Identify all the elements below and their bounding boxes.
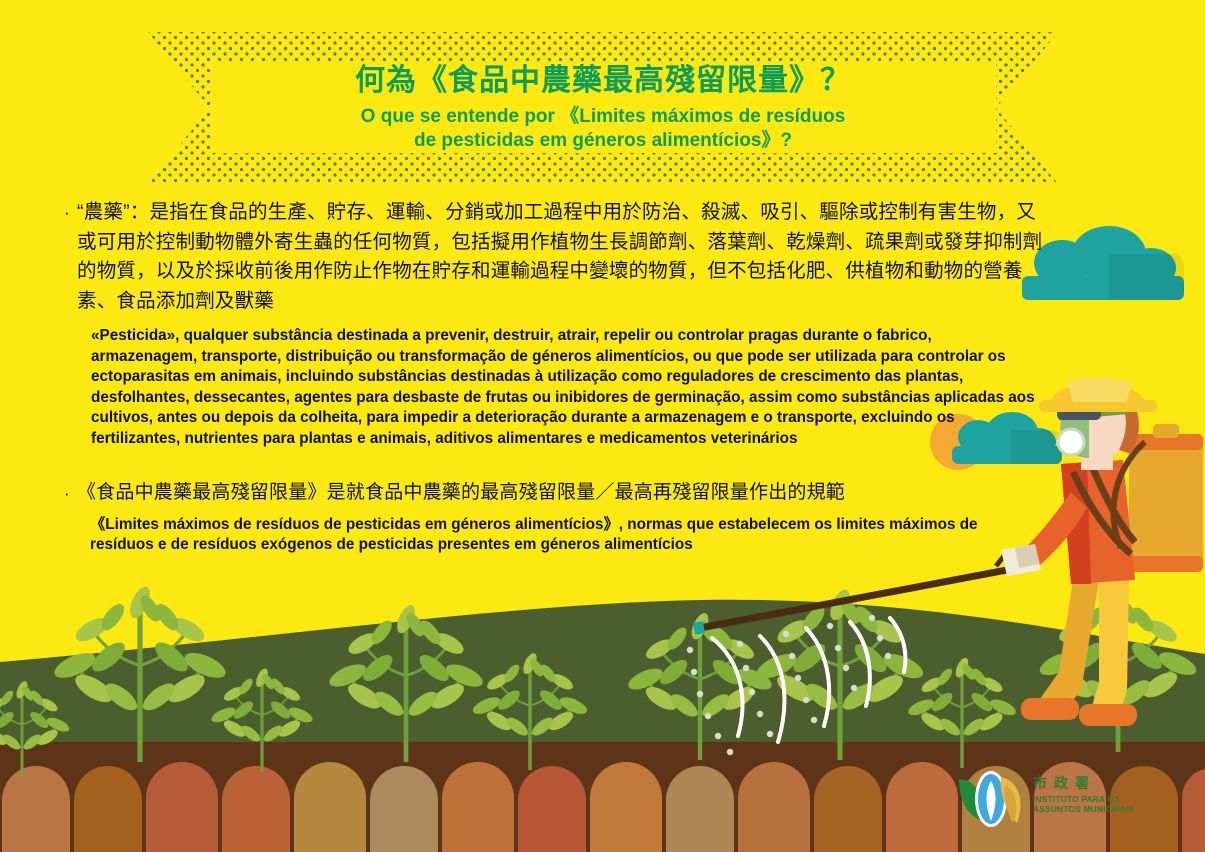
iam-logo-chinese: 市政署 — [1033, 776, 1134, 790]
section-1-portuguese-text: «Pesticida», qualquer substância destina… — [91, 326, 1036, 450]
section-1-chinese-row: · “農藥”：是指在食品的生產、貯存、運輸、分銷或加工過程中用於防治、殺滅、吸引… — [64, 198, 1054, 316]
bullet-marker-2: · — [64, 479, 77, 508]
spray-droplets — [687, 615, 891, 755]
farmer-front-boot — [1079, 704, 1137, 726]
iam-logo-text: 市政署 INSTITUTO PARA OS ASSUNTOS MUNICIPAI… — [1033, 776, 1134, 815]
iam-logo: 市政署 INSTITUTO PARA OS ASSUNTOS MUNICIPAI… — [955, 758, 1170, 832]
section-2-chinese-row: · 《食品中農藥最高殘留限量》是就食品中農藥的最高殘留限量／最高再殘留限量作出的… — [64, 479, 1054, 508]
respirator-filter — [1058, 429, 1084, 455]
page-title-portuguese-line2: de pesticidas em géneros alimentícios》? — [414, 129, 792, 153]
sprayer-tank — [1129, 434, 1203, 572]
spray-pattern — [712, 618, 905, 742]
farmer-back-leg — [1035, 580, 1099, 718]
page-title-portuguese-line1: O que se entende por 《Limites máximos de… — [361, 105, 846, 129]
section-2-portuguese-text: 《Limites máximos de resíduos de pesticid… — [90, 515, 990, 556]
content-body: · “農藥”：是指在食品的生產、貯存、運輸、分銷或加工過程中用於防治、殺滅、吸引… — [64, 198, 1054, 556]
section-2-chinese-text: 《食品中農藥最高殘留限量》是就食品中農藥的最高殘留限量／最高再殘留限量作出的規範 — [77, 479, 1054, 507]
iam-logo-portuguese-line2: ASSUNTOS MUNICIPAIS — [1033, 804, 1134, 814]
page-title-chinese: 何為《食品中農藥最高殘留限量》？ — [355, 63, 851, 99]
helmet-highlight — [1067, 378, 1131, 402]
farmer-illustration — [995, 372, 1205, 762]
iam-logo-portuguese-line1: INSTITUTO PARA OS — [1033, 794, 1134, 804]
spray-wand — [693, 556, 1028, 635]
section-2: · 《食品中農藥最高殘留限量》是就食品中農藥的最高殘留限量／最高再殘留限量作出的… — [64, 479, 1054, 556]
poster-root: 何為《食品中農藥最高殘留限量》？ O que se entende por 《L… — [0, 0, 1205, 852]
farmer-back-boot — [1021, 698, 1079, 720]
sprayer-tank-base — [1129, 556, 1203, 572]
iam-logo-mark — [955, 761, 1027, 829]
bullet-marker-1: · — [64, 198, 77, 227]
header-banner: 何為《食品中農藥最高殘留限量》？ O que se entende por 《L… — [148, 32, 1058, 184]
section-1-chinese-text: “農藥”：是指在食品的生產、貯存、運輸、分銷或加工過程中用於防治、殺滅、吸引、驅… — [77, 198, 1054, 316]
